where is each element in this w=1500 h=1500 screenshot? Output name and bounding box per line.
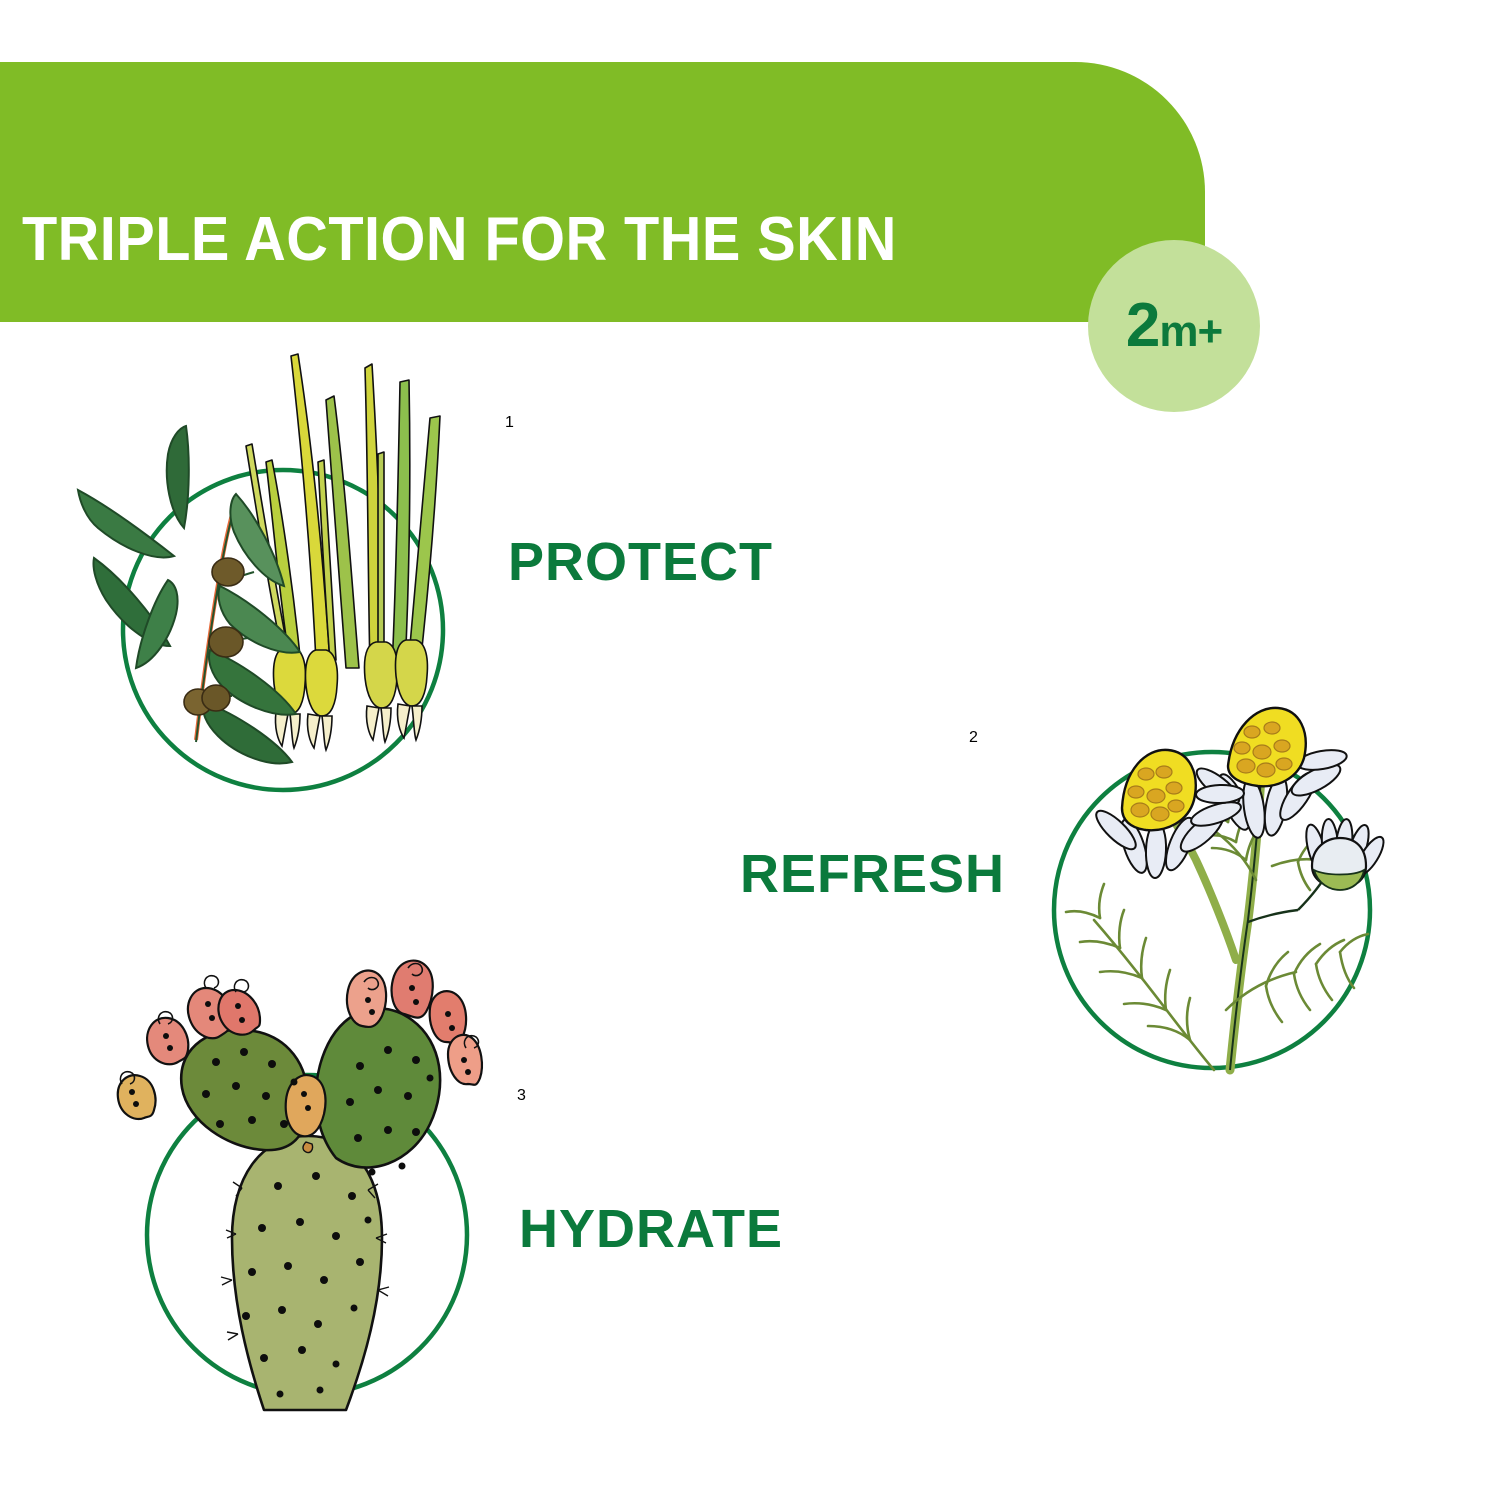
step-number-3: 3 <box>517 1087 526 1104</box>
age-badge-unit: m+ <box>1159 310 1222 354</box>
step-badge-2: 2 <box>969 729 978 747</box>
page-title: TRIPLE ACTION FOR THE SKIN <box>22 205 897 275</box>
step-number-2: 2 <box>969 729 978 746</box>
step-number-1: 1 <box>505 414 514 431</box>
prickly-pear-cactus-icon <box>120 990 520 1440</box>
infographic-page: TRIPLE ACTION FOR THE SKIN 2m+ <box>0 0 1500 1500</box>
eucalyptus-lemongrass-icon <box>78 350 498 800</box>
step-label-hydrate: HYDRATE <box>519 1200 783 1258</box>
chamomile-flower-icon <box>1040 630 1440 1080</box>
age-badge-text: 2m+ <box>1126 295 1222 357</box>
age-badge-number: 2 <box>1126 295 1159 357</box>
step-label-protect: PROTECT <box>508 533 773 591</box>
step-badge-3: 3 <box>517 1087 526 1105</box>
header-banner: TRIPLE ACTION FOR THE SKIN <box>0 62 1205 322</box>
step-badge-1: 1 <box>505 414 514 432</box>
step-label-refresh: REFRESH <box>740 845 1005 903</box>
age-badge: 2m+ <box>1088 240 1260 412</box>
